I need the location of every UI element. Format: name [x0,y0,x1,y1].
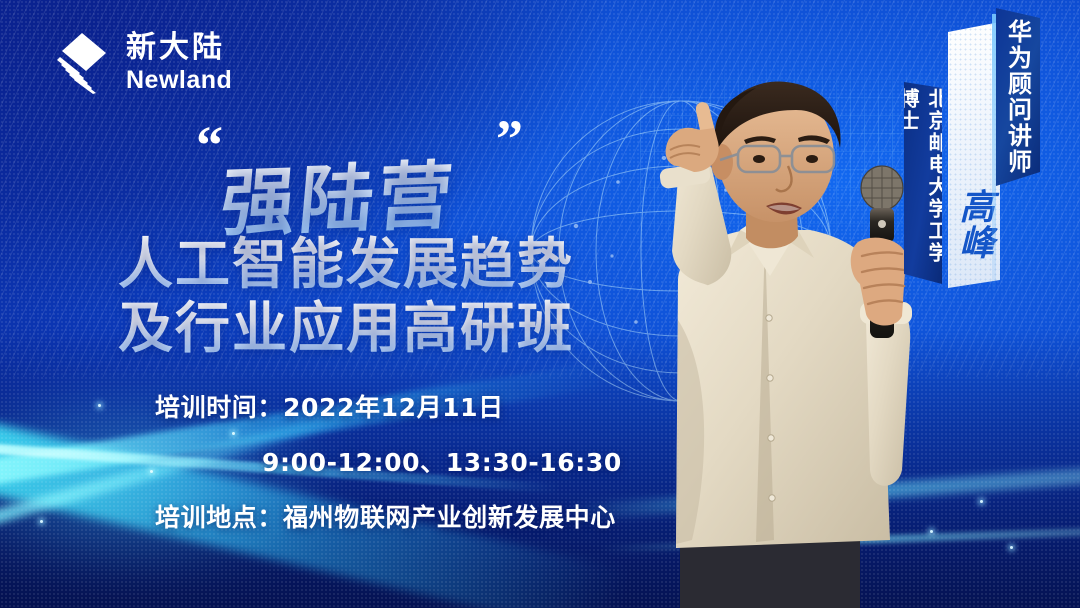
info-value-hours: 9:00-12:00、13:30-16:30 [262,443,622,479]
info-value-venue: 福州物联网产业创新发展中心 [283,498,616,534]
panel-accent-line [992,14,996,290]
brush-title-row: “ 强陆营 ” [118,118,588,233]
speaker-name-label: 高峰 [952,168,996,280]
brush-title: 强陆营 [217,136,461,251]
info-label-location: 培训地点： [155,498,283,534]
logo-english-name: Newland [126,68,232,93]
event-info-block: 培训时间： 2022年12月11日 9:00-12:00、13:30-16:30… [155,388,622,553]
info-label-time: 培训时间： [155,388,283,424]
promotional-banner: 新大陆 Newland “ 强陆营 ” 人工智能发展趋势 及行业应用高研班 培训… [0,0,1080,608]
logo-wordmark: 新大陆 Newland [126,33,232,93]
info-row-time: 培训时间： 2022年12月11日 [155,388,622,424]
speaker-school-label: 北京邮电大学工学博士 [904,82,942,284]
headline-block: “ 强陆营 ” 人工智能发展趋势 及行业应用高研班 [118,118,588,358]
info-row-hours: 9:00-12:00、13:30-16:30 [155,443,622,479]
newland-diamond-logo-icon [52,31,112,95]
logo-chinese-name: 新大陆 [126,33,232,63]
closing-quote-mark: ” [496,118,521,161]
headline-line-2: 及行业应用高研班 [118,299,588,357]
info-value-date: 2022年12月11日 [283,388,504,424]
brand-logo: 新大陆 Newland [52,31,232,95]
info-row-location: 培训地点： 福州物联网产业创新发展中心 [155,498,622,534]
opening-quote-mark: “ [196,124,221,167]
speaker-title-label: 华为顾问讲师 [996,8,1040,186]
speaker-credential-panels: 北京邮电大学工学博士 华为顾问讲师 高峰 [900,0,1080,320]
